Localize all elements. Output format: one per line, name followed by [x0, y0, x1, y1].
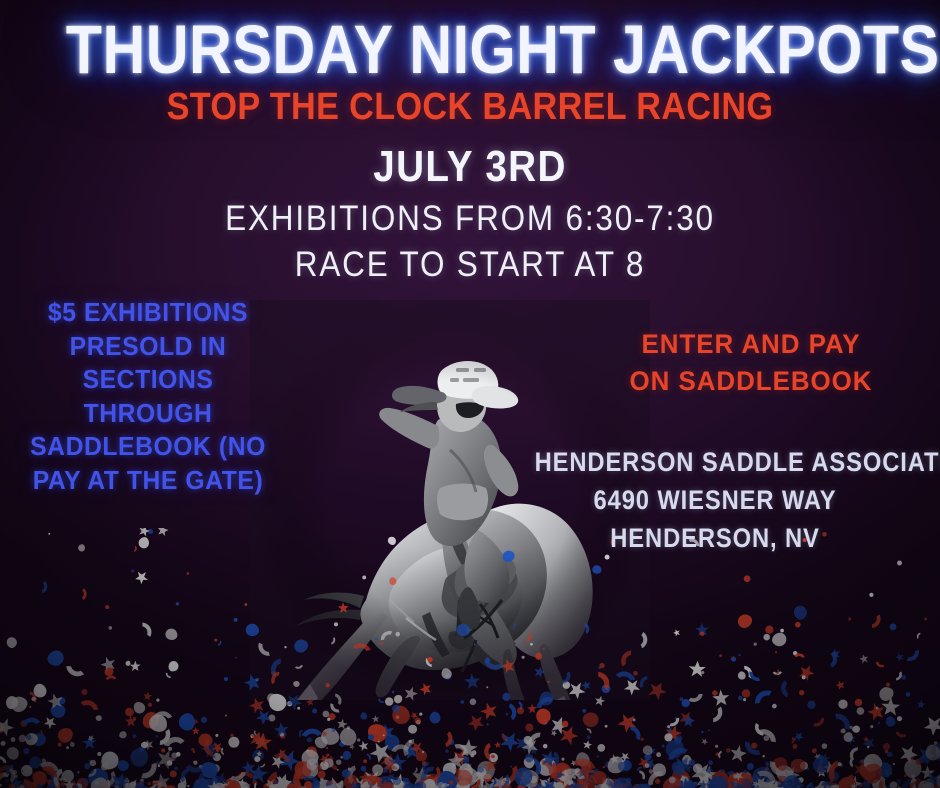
exhibition-info-line-5: SADDLEBOOK (NO [25, 430, 272, 464]
exhibition-info-line-6: PAY AT THE GATE) [25, 464, 272, 498]
race-start-time: RACE TO START AT 8 [47, 242, 893, 288]
entry-cta-block: ENTER AND PAY ON SADDLEBOOK [602, 326, 900, 401]
event-times: EXHIBITIONS FROM 6:30-7:30 RACE TO START… [47, 196, 893, 287]
confetti-overlay [0, 528, 940, 788]
exhibition-info-line-1: $5 EXHIBITIONS [25, 296, 272, 330]
entry-cta-line-1: ENTER AND PAY [602, 326, 900, 363]
venue-street: 6490 WIESNER WAY [535, 482, 896, 520]
venue-city-state: HENDERSON, NV [535, 520, 896, 558]
header-block: THURSDAY NIGHT JACKPOTS STOP THE CLOCK B… [0, 16, 940, 128]
venue-name: HENDERSON SADDLE ASSOCIATION [535, 444, 896, 482]
exhibition-info-line-3: SECTIONS [25, 363, 272, 397]
event-date: JULY 3RD [56, 142, 883, 192]
main-title: THURSDAY NIGHT JACKPOTS [66, 16, 874, 84]
sub-title: STOP THE CLOCK BARREL RACING [47, 88, 893, 128]
exhibition-time: EXHIBITIONS FROM 6:30-7:30 [47, 196, 893, 242]
poster-canvas: THURSDAY NIGHT JACKPOTS STOP THE CLOCK B… [0, 0, 940, 788]
exhibition-info-line-4: THROUGH [25, 397, 272, 431]
exhibition-info-line-2: PRESOLD IN [25, 330, 272, 364]
exhibition-info-block: $5 EXHIBITIONS PRESOLD IN SECTIONS THROU… [25, 296, 272, 497]
venue-address-block: HENDERSON SADDLE ASSOCIATION 6490 WIESNE… [535, 444, 896, 557]
entry-cta-line-2: ON SADDLEBOOK [602, 363, 900, 400]
